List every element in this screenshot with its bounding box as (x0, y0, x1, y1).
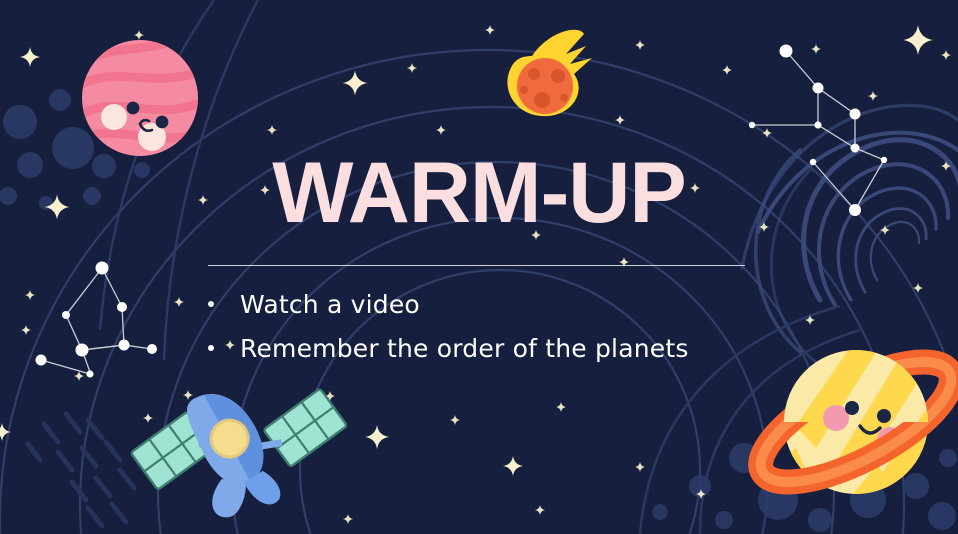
bullet-list: Watch a video Remember the order of the … (208, 282, 908, 370)
page-title: WARM-UP (0, 150, 958, 236)
list-item: Remember the order of the planets (208, 326, 908, 370)
slide-canvas: WARM-UP Watch a video Remember the order… (0, 0, 958, 534)
bullet-text: Remember the order of the planets (240, 334, 689, 363)
satellite (122, 341, 363, 534)
comet (507, 30, 592, 116)
satellite-panel-right (263, 389, 347, 467)
bullet-text: Watch a video (240, 290, 420, 319)
pink-planet (78, 40, 200, 156)
illustrations-layer (0, 0, 958, 534)
list-item: Watch a video (208, 282, 908, 326)
bullet-dot-icon (208, 301, 214, 307)
bullet-dot-icon (208, 345, 214, 351)
